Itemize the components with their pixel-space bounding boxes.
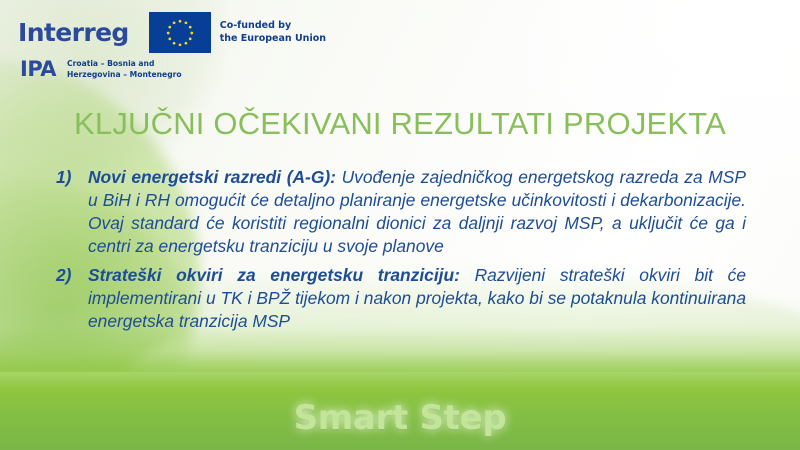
list-item-marker: 1) [56,166,88,189]
logo-row-secondary: IPA Croatia – Bosnia and Herzegovina – M… [20,59,326,80]
logo-bar: Interreg [18,12,326,80]
ipa-region-label: Croatia – Bosnia and Herzegovina – Monte… [67,59,182,80]
list-item: 1) Novi energetski razredi (A-G): Uvođen… [56,166,746,259]
interreg-logo: Interreg [18,20,129,45]
eu-cofunding-emblem: Co-funded by the European Union [149,12,326,53]
eu-flag-icon [149,12,211,53]
project-brand-label: Smart Step [0,398,800,438]
list-item-lead: Novi energetski razredi (A-G): [88,167,336,187]
logo-row-primary: Interreg [18,12,326,53]
presentation-slide: Interreg [0,0,800,450]
ipa-logo: IPA [20,59,56,80]
list-item-lead: Strateški okviri za energetsku tranzicij… [88,265,460,285]
page-title: KLJUČNI OČEKIVANI REZULTATI PROJEKTA [0,106,800,142]
list-item-marker: 2) [56,264,88,287]
list-item-text: Novi energetski razredi (A-G): Uvođenje … [88,166,746,259]
list-item-text: Strateški okviri za energetsku tranzicij… [88,264,746,333]
results-list: 1) Novi energetski razredi (A-G): Uvođen… [56,166,746,338]
eu-funding-label: Co-funded by the European Union [220,20,326,45]
list-item: 2) Strateški okviri za energetsku tranzi… [56,264,746,333]
